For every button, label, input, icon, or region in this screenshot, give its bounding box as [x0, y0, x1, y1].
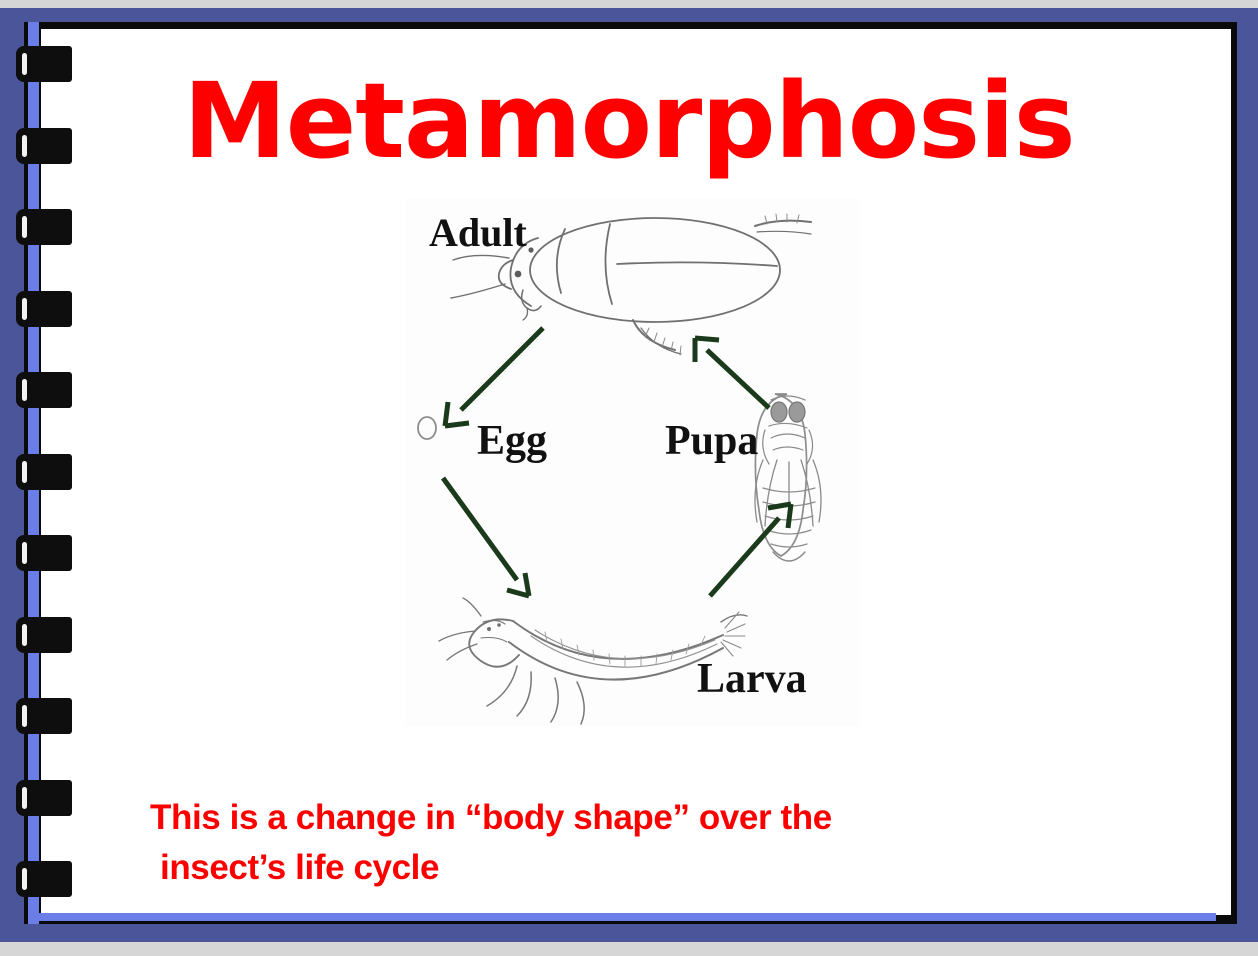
caption-line-2: insect’s life cycle [150, 843, 1130, 893]
spiral-ring [16, 454, 72, 490]
spiral-ring [16, 372, 72, 408]
stage-label-adult: Adult [429, 210, 527, 255]
caption-line-1: This is a change in “body shape” over th… [150, 793, 1130, 843]
page-title: Metamorphosis [0, 66, 1258, 176]
bottom-accent-strip [28, 913, 1216, 921]
spiral-ring [16, 291, 72, 327]
notebook-slide: Metamorphosis [0, 0, 1258, 956]
arrow-egg-to-larva [443, 478, 529, 596]
arrow-larva-to-pupa [710, 504, 791, 596]
arrow-pupa-to-adult [695, 338, 769, 408]
spiral-ring [16, 209, 72, 245]
spiral-ring [16, 535, 72, 571]
spiral-ring [16, 780, 72, 816]
stage-label-pupa: Pupa [665, 418, 758, 464]
spiral-ring [16, 861, 72, 897]
egg-drawing [418, 417, 436, 439]
spiral-ring [16, 698, 72, 734]
stage-label-egg: Egg [477, 418, 547, 464]
insect-life-cycle-diagram: Adult Egg Larva Pupa [405, 198, 860, 726]
arrow-adult-to-egg [445, 328, 543, 426]
spiral-ring [16, 617, 72, 653]
stage-label-larva: Larva [697, 656, 807, 702]
caption: This is a change in “body shape” over th… [150, 793, 1130, 893]
